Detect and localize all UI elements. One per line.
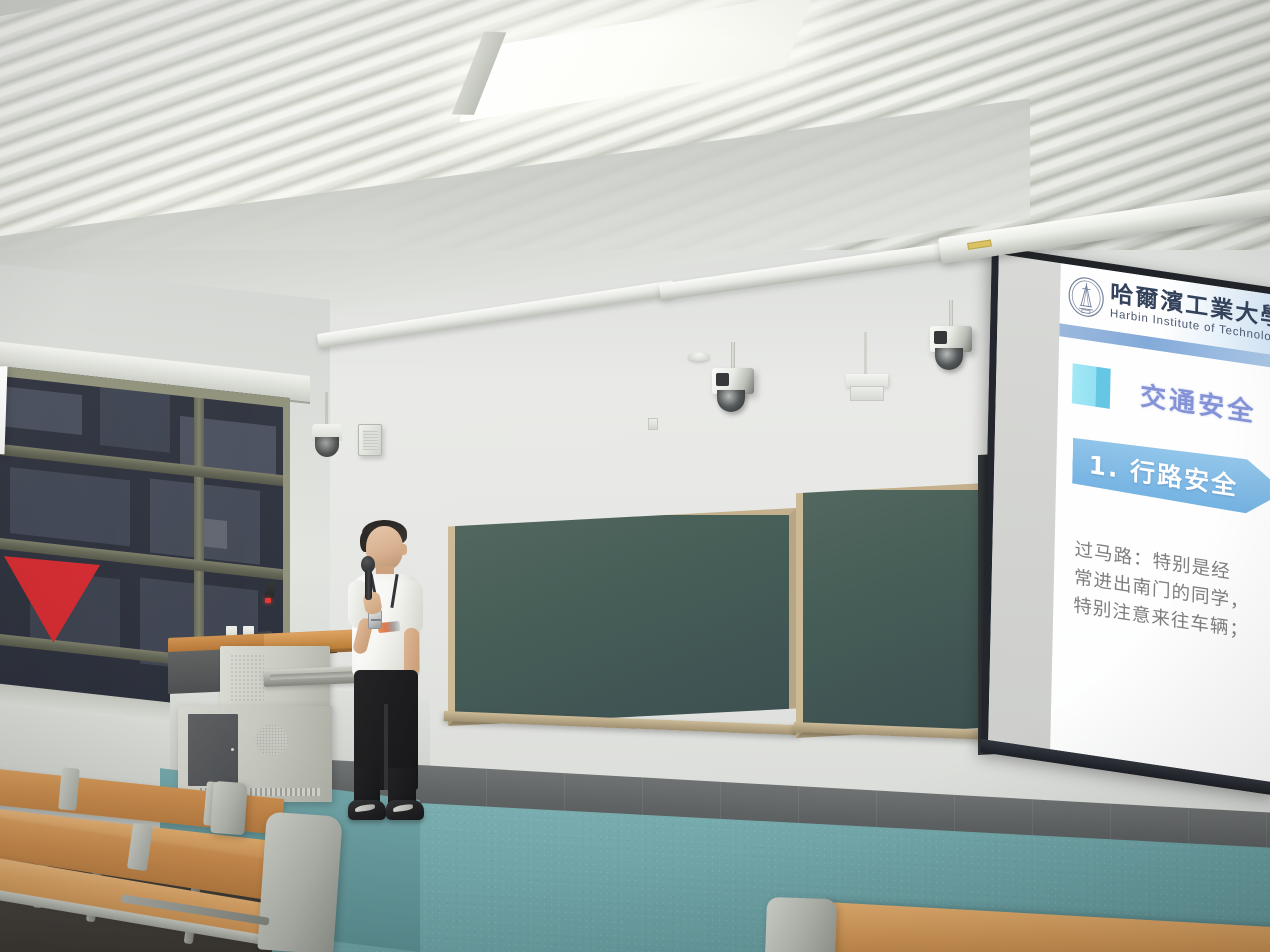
camera-mount-rod (949, 300, 953, 328)
projection-screen: 哈爾濱工業大學 Harbin Institute of Technolog 交通… (981, 246, 1270, 796)
screen-unlit-area (988, 254, 1061, 749)
arrow-banner-text: 1. 行路安全 (1072, 443, 1238, 504)
lectern-grille (230, 654, 264, 702)
screen-surface: 哈爾濱工業大學 Harbin Institute of Technolog 交通… (988, 254, 1270, 782)
outside-building (10, 467, 130, 546)
presenter (338, 518, 434, 820)
dome-camera-right (930, 326, 972, 372)
desk-end-panel-right (765, 897, 837, 952)
bracket-rod (864, 332, 867, 376)
shoe-logo (355, 804, 376, 812)
ceiling-mount-bracket (846, 374, 888, 400)
lectern-cabinet (178, 706, 332, 802)
presenter-right-arm (404, 628, 419, 676)
slide-title-row: 交通安全 (1058, 361, 1270, 434)
lectern-speaker-grille (256, 724, 288, 756)
title-swatch (1072, 363, 1111, 409)
presenter-right-shoe (386, 800, 424, 820)
blackboard-right (796, 483, 986, 738)
camera-mount-rod (731, 342, 735, 370)
camera-dome (935, 348, 963, 370)
shoe-logo (393, 804, 414, 812)
lecture-hall-photo: 哈爾濱工業大學 Harbin Institute of Technolog 交通… (0, 0, 1270, 952)
mic-handle (365, 570, 372, 600)
ptz-camera-wall (312, 424, 342, 458)
dome-camera-left (712, 368, 754, 414)
housing-label (967, 239, 992, 249)
lectern-side-panel (168, 649, 224, 694)
lectern-cabinet-door (188, 714, 238, 786)
outside-building (100, 387, 170, 453)
ceiling-disc-light (688, 352, 710, 361)
desk-bracket (58, 767, 80, 810)
outside-building (0, 386, 82, 435)
camera-lens (716, 373, 729, 386)
red-triangle-decal (4, 556, 101, 647)
presenter-left-shoe (348, 800, 386, 820)
camera-dome (717, 390, 745, 412)
camera-dome (315, 437, 339, 457)
wall-socket (648, 418, 658, 430)
slide-arrow-banner: 1. 行路安全 (1072, 434, 1270, 519)
hit-crest-icon (1066, 273, 1107, 321)
desk-end-panel (257, 812, 342, 952)
slide-body-text: 过马路：特别是经 常进出南门的同学， 特别注意来往车辆； (1073, 536, 1270, 650)
blackboard-left (448, 508, 796, 726)
slide-section-title: 交通安全 (1140, 375, 1257, 429)
presentation-slide: 哈爾濱工業大學 Harbin Institute of Technolog 交通… (1050, 263, 1270, 782)
wall-speaker (358, 424, 382, 456)
presenter-ear (400, 544, 407, 555)
camera-lens (934, 331, 947, 344)
presenter-right-sleeve (400, 580, 423, 634)
mic-status-led (265, 598, 271, 603)
desk-end-panel (210, 781, 248, 835)
camera-stem (325, 392, 328, 426)
bracket-plate-lower (850, 386, 884, 401)
handheld-microphone (362, 556, 374, 598)
